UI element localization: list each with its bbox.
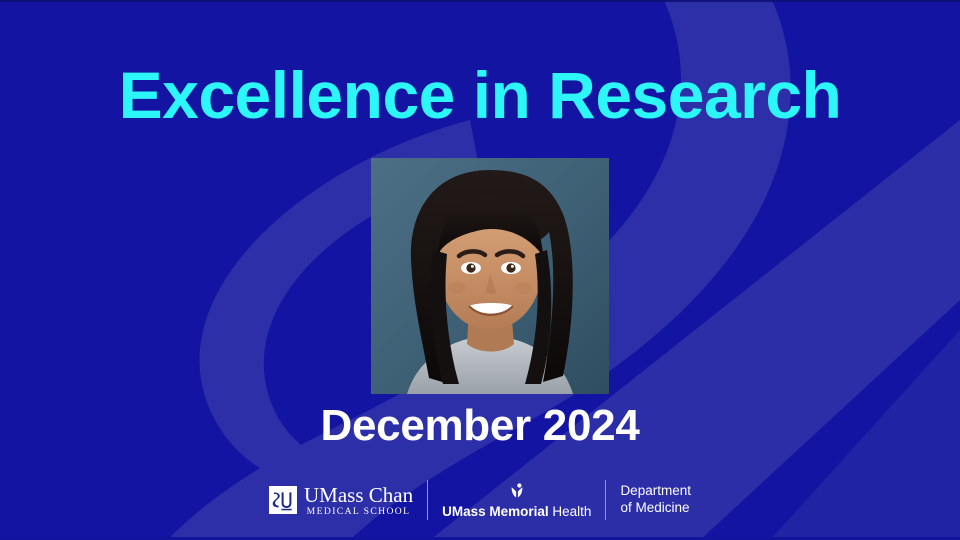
umass-memorial-health-logo: UMass Memorial Health [442,477,591,523]
umass-memorial-name-light: Health [552,504,591,519]
page-title: Excellence in Research [0,62,960,128]
department-of-medicine-logo: Department of Medicine [620,477,691,523]
slide-top-edge [0,0,960,2]
umass-memorial-health-name: UMass Memorial Health [442,505,591,519]
portrait-photo-icon [371,158,609,394]
logo-divider-1 [427,480,428,520]
presentation-slide: Excellence in Research [0,0,960,540]
umass-memorial-name-bold: UMass Memorial [442,504,549,519]
umass-memorial-tulip-icon [507,482,527,502]
headshot-photo [371,158,609,394]
umass-chan-monogram-icon [269,486,297,514]
umass-chan-logo: UMass Chan MEDICAL SCHOOL [269,477,413,523]
department-line-2: of Medicine [620,500,691,517]
logo-divider-2 [605,480,606,520]
slide-date: December 2024 [0,404,960,448]
department-line-1: Department [620,483,691,500]
umass-chan-name: UMass Chan [304,484,413,506]
logo-bar: UMass Chan MEDICAL SCHOOL UMass Memorial… [0,474,960,526]
umass-chan-subtitle: MEDICAL SCHOOL [307,507,411,517]
